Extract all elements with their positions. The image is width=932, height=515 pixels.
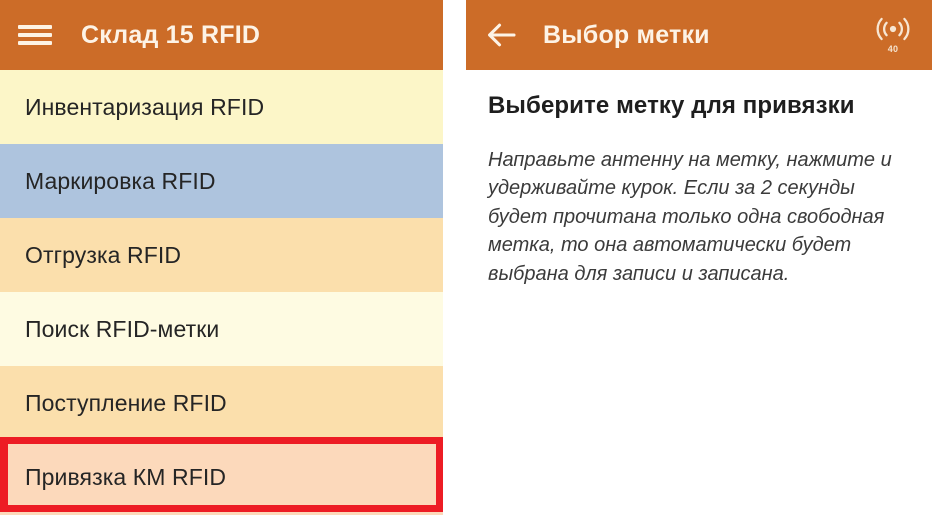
menu-item-tag-search[interactable]: Поиск RFID-метки (0, 292, 443, 366)
left-appbar-title: Склад 15 RFID (81, 21, 260, 50)
right-appbar: Выбор метки 40 (466, 0, 932, 70)
screen-separator (443, 0, 466, 512)
content-instructions: Направьте антенну на метку, нажмите и уд… (488, 146, 908, 288)
hamburger-bar-3 (18, 41, 52, 45)
menu-item-label: Инвентаризация RFID (25, 94, 264, 121)
menu-item-label: Маркировка RFID (25, 168, 216, 195)
dual-screenshot-container: Склад 15 RFID Инвентаризация RFID Маркир… (0, 0, 932, 512)
rfid-antenna-icon[interactable]: 40 (872, 14, 914, 56)
menu-item-label: Поиск RFID-метки (25, 316, 219, 343)
menu-item-shipment[interactable]: Отгрузка RFID (0, 218, 443, 292)
hamburger-icon[interactable] (18, 22, 52, 48)
right-screen-content: Выберите метку для привязки Направьте ан… (466, 70, 932, 288)
menu-item-marking[interactable]: Маркировка RFID (0, 144, 443, 218)
menu-item-km-binding[interactable]: Привязка КМ RFID (0, 440, 443, 515)
antenna-power-level: 40 (872, 44, 914, 54)
right-screen: Выбор метки 40 Выберите метку для привяз… (466, 0, 932, 512)
menu-item-label: Отгрузка RFID (25, 242, 181, 269)
hamburger-bar-1 (18, 25, 52, 29)
appbar-left-group (0, 22, 52, 48)
menu-item-receiving[interactable]: Поступление RFID (0, 366, 443, 440)
back-arrow-icon[interactable] (486, 22, 516, 48)
menu-item-inventory[interactable]: Инвентаризация RFID (0, 70, 443, 144)
menu-item-label: Привязка КМ RFID (25, 464, 226, 491)
menu-item-label: Поступление RFID (25, 390, 227, 417)
rfid-operations-menu: Инвентаризация RFID Маркировка RFID Отгр… (0, 70, 443, 512)
hamburger-bar-2 (18, 33, 52, 37)
content-heading: Выберите метку для привязки (488, 92, 908, 120)
left-appbar: Склад 15 RFID (0, 0, 443, 70)
left-screen: Склад 15 RFID Инвентаризация RFID Маркир… (0, 0, 443, 512)
right-appbar-title: Выбор метки (543, 21, 872, 50)
